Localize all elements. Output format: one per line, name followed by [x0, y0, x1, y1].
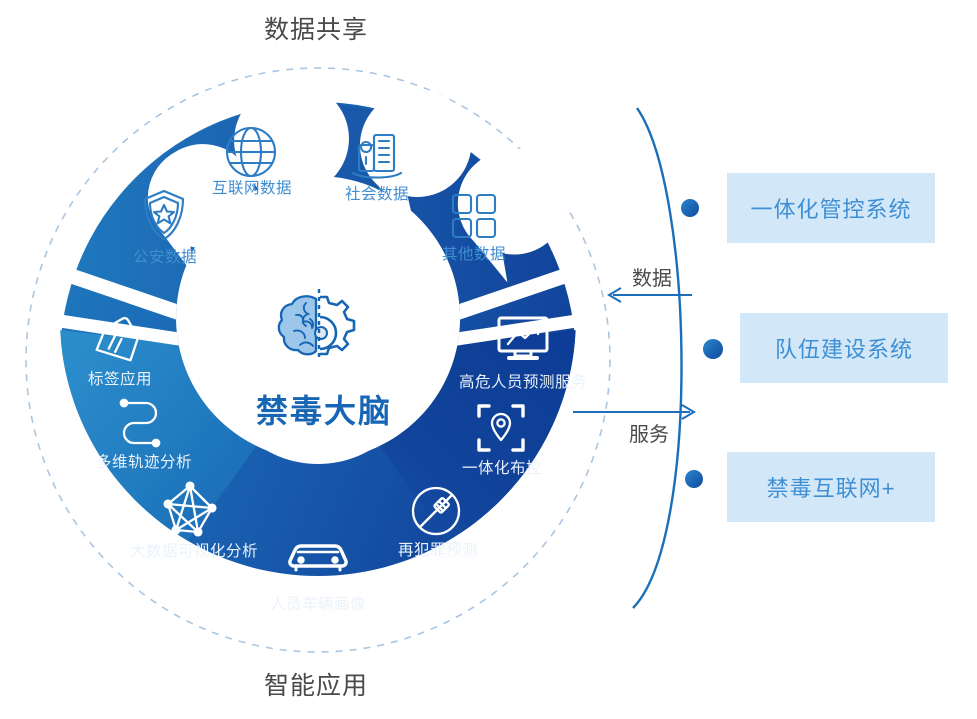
data-pin-label: 社会数据	[345, 182, 409, 204]
bracket-arc	[633, 108, 682, 608]
diagram-canvas: 数据共享 智能应用	[0, 0, 977, 719]
flow-label-service: 服务	[629, 418, 669, 447]
wheel-item-label: 标签应用	[88, 367, 152, 389]
arc-connector-dots	[681, 199, 723, 488]
data-pin-label: 互联网数据	[212, 176, 292, 198]
data-pin-label: 其他数据	[442, 242, 506, 264]
flow-label-data: 数据	[632, 262, 672, 291]
system-box-team-building[interactable]: 队伍建设系统	[740, 313, 948, 383]
system-box-antidrug-internet-plus[interactable]: 禁毒互联网+	[727, 452, 935, 522]
wheel-item-label: 人员车辆画像	[270, 592, 366, 614]
wheel-item-label: 高危人员预测服务	[459, 370, 587, 392]
wheel-item-label: 再犯罪预测	[398, 538, 478, 560]
flow-arrows	[573, 288, 694, 419]
wheel-item-label: 多维轨迹分析	[96, 450, 192, 472]
center-title: 禁毒大脑	[256, 386, 380, 432]
wheel-item-label: 大数据可视化分析	[130, 539, 258, 561]
data-pin-label: 公安数据	[133, 245, 197, 267]
core-disc	[214, 256, 422, 464]
wheel-item-label: 一体化布控	[462, 456, 542, 478]
system-box-integrated-control[interactable]: 一体化管控系统	[727, 173, 935, 243]
